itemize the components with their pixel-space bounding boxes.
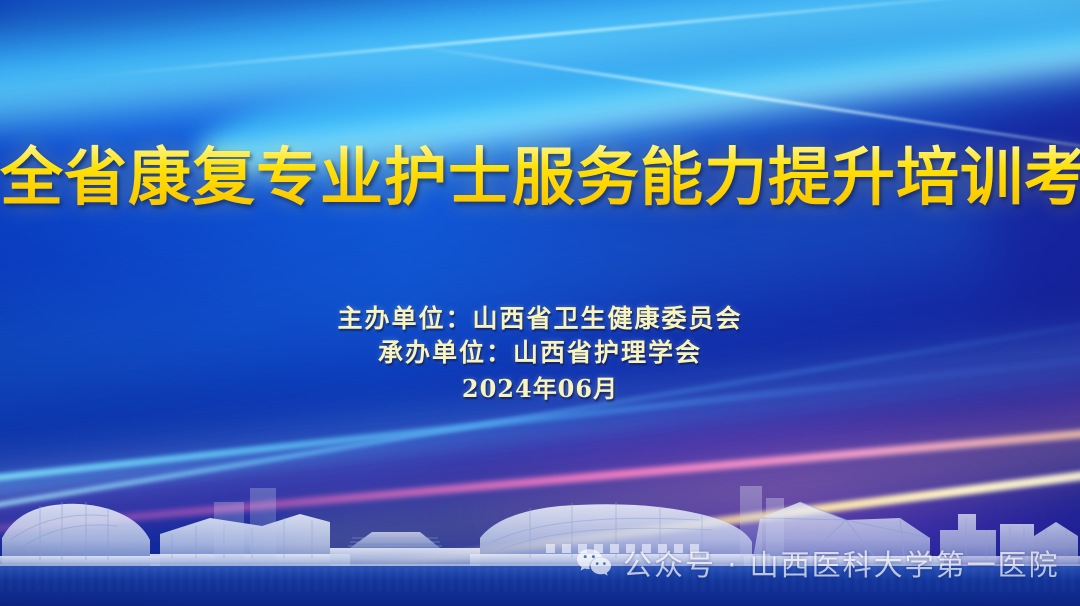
presentation-slide: 全省康复专业护士服务能力提升培训考核 主办单位：山西省卫生健康委员会 承办单位：…	[0, 0, 1080, 606]
wechat-icon	[576, 548, 612, 578]
organizer-line: 主办单位：山西省卫生健康委员会	[0, 302, 1080, 336]
watermark: 公众号 · 山西医科大学第一医院	[576, 542, 1060, 584]
slide-subtitle-block: 主办单位：山西省卫生健康委员会 承办单位：山西省护理学会 2024年06月	[0, 302, 1080, 406]
watermark-text: 公众号 · 山西医科大学第一医院	[623, 542, 1060, 584]
slide-title: 全省康复专业护士服务能力提升培训考核	[0, 144, 1080, 212]
date-line: 2024年06月	[0, 372, 1080, 406]
co-organizer-line: 承办单位：山西省护理学会	[0, 336, 1080, 370]
